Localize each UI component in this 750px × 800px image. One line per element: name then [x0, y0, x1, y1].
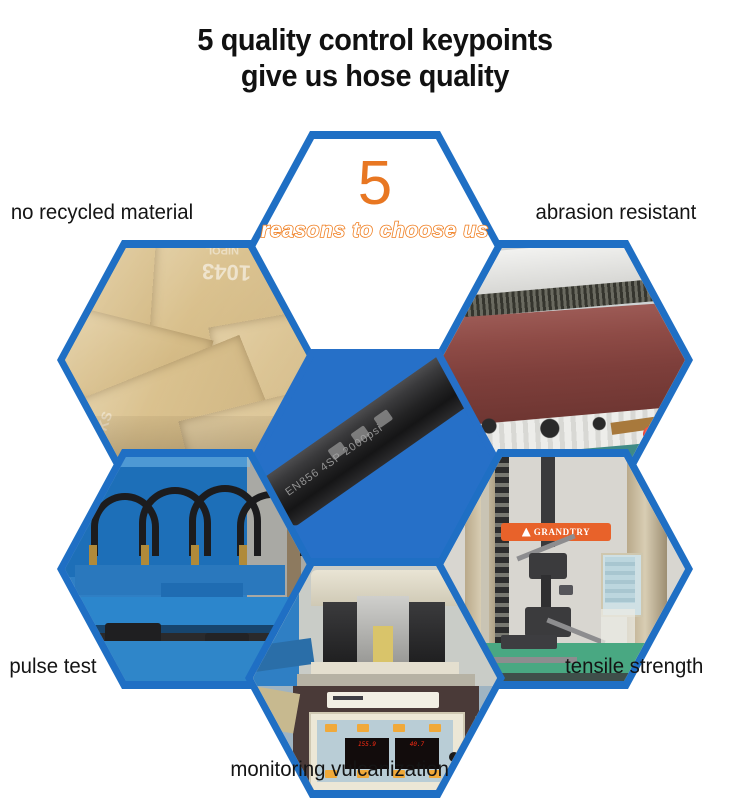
rheometer-display-right: 40.7: [395, 741, 439, 748]
poster-root: 5 quality control keypoints give us hose…: [0, 0, 750, 800]
reasons-tagline-wrap: reasons to choose us: [245, 219, 505, 243]
caption-no-recycled-material: no recycled material: [11, 201, 193, 225]
hexagon-honeycomb: 5 reasons to choose us 1043 NIPOL: [0, 0, 750, 800]
rheometer-display-left: 155.9: [345, 741, 389, 748]
caption-monitoring-vulcanization: monitoring vulcanization: [230, 758, 449, 782]
brand-name: GRANDTRY: [534, 527, 590, 537]
caption-tensile-strength: tensile strength: [565, 655, 703, 679]
tensile-machine-banner: GRANDTRY: [501, 523, 611, 541]
reasons-number: 5: [253, 153, 497, 215]
brand-triangle-icon: [522, 528, 531, 537]
reasons-tagline: reasons to choose us: [261, 219, 489, 243]
caption-abrasion-resistant: abrasion resistant: [535, 201, 696, 225]
caption-pulse-test: pulse test: [9, 655, 96, 679]
